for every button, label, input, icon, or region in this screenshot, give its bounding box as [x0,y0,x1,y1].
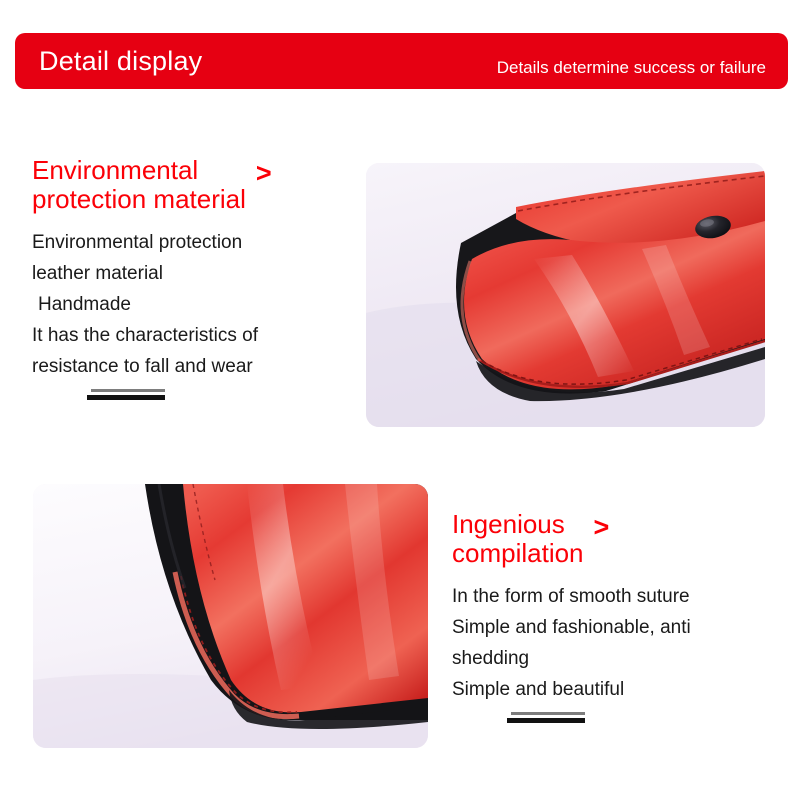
divider-rule-thick [87,395,165,400]
detail-display-page: Detail display Details determine success… [0,0,800,800]
feature-line: Simple and beautiful [452,674,772,705]
header-subtitle: Details determine success or failure [497,44,788,78]
feature-line: It has the characteristics of resistance… [32,320,332,382]
feature-heading-row: Environmental protection material > [32,156,332,214]
divider-rule-thick [507,718,585,723]
feature-heading-text: Ingenious compilation [452,510,584,568]
feature-line: Environmental protection leather materia… [32,227,332,289]
page-title: Detail display [15,46,202,77]
section-divider [87,389,165,400]
divider-rule-thin [91,389,165,392]
chevron-right-icon: > [256,158,272,188]
header-banner: Detail display Details determine success… [15,33,788,89]
section-divider [507,712,585,723]
feature-heading-row: Ingenious compilation > [452,510,772,568]
feature-line: In the form of smooth suture [452,581,772,612]
feature-line: Handmade [32,289,332,320]
feature-line: Simple and fashionable, anti shedding [452,612,772,674]
product-photo-stitch-closeup [33,484,428,748]
feature-heading-text: Environmental protection material [32,156,246,214]
divider-rule-thin [511,712,585,715]
feature-line-list: Environmental protection leather materia… [32,227,332,382]
product-photo-stitch-illustration [33,484,428,748]
product-photo-flap-illustration [366,163,765,427]
chevron-right-icon: > [594,512,610,542]
product-photo-flap-closeup [366,163,765,427]
feature-block-ingenious: Ingenious compilation > In the form of s… [452,510,772,723]
feature-line-list: In the form of smooth suture Simple and … [452,581,772,705]
feature-block-environmental: Environmental protection material > Envi… [32,156,332,400]
